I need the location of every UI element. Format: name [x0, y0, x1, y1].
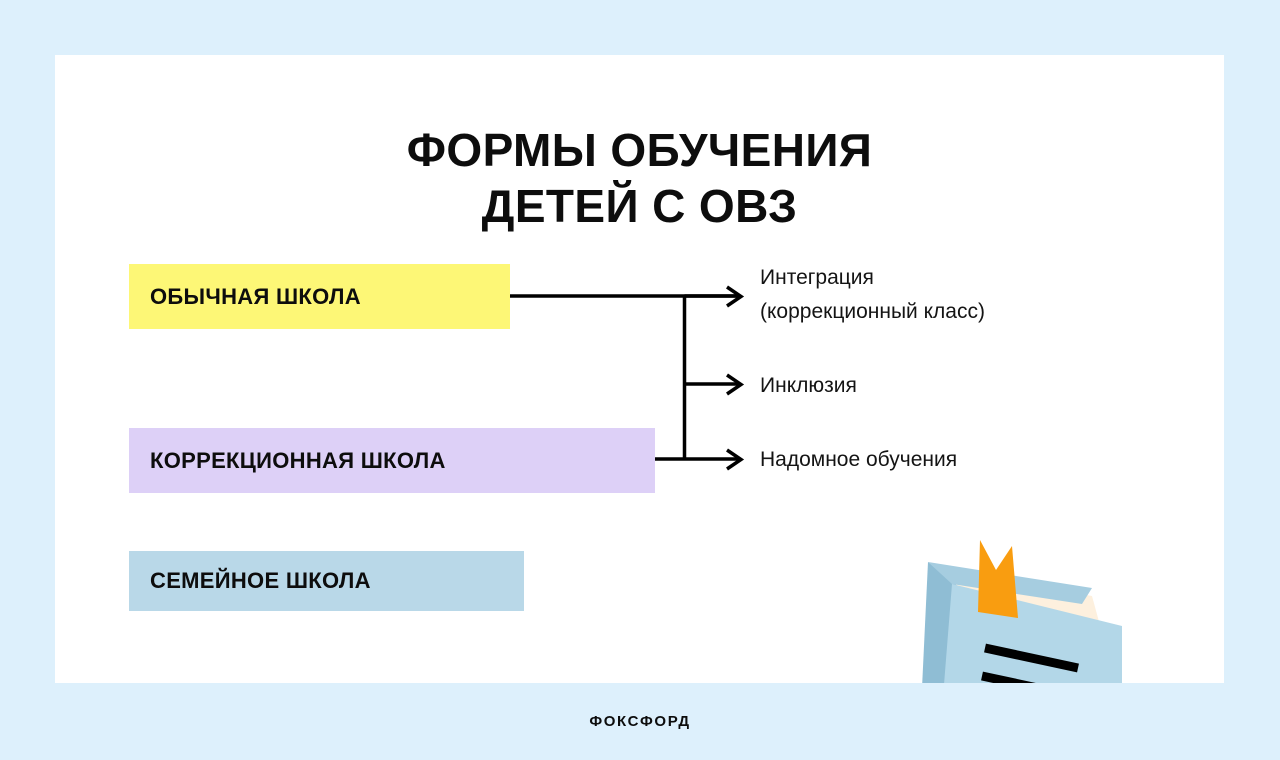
bookmark-ribbon: [978, 540, 1018, 618]
footer-bar: ФОКСФОРД: [0, 683, 1280, 760]
outcome-label-home-schooling: Надомное обучения: [760, 443, 957, 477]
category-label-correction: КОРРЕКЦИОННАЯ ШКОЛА: [150, 448, 446, 474]
page-title: ФОРМЫ ОБУЧЕНИЯ ДЕТЕЙ С ОВЗ: [55, 122, 1224, 234]
category-label-family: СЕМЕЙНОЕ ШКОЛА: [150, 568, 371, 594]
category-box-regular[interactable]: ОБЫЧНАЯ ШКОЛА: [129, 264, 510, 329]
category-box-family[interactable]: СЕМЕЙНОЕ ШКОЛА: [129, 551, 524, 611]
arrowhead-integration: [727, 287, 741, 306]
poster-canvas: ФОРМЫ ОБУЧЕНИЯ ДЕТЕЙ С ОВЗ: [0, 0, 1280, 760]
category-box-correction[interactable]: КОРРЕКЦИОННАЯ ШКОЛА: [129, 428, 655, 493]
outcome-label-inclusion: Инклюзия: [760, 369, 857, 403]
brand-logo: ФОКСФОРД: [589, 713, 690, 730]
arrowhead-inclusion: [727, 375, 741, 394]
outcome-label-integration: Интеграция (коррекционный класс): [760, 261, 985, 329]
arrowhead-home-schooling: [727, 450, 741, 469]
category-label-regular: ОБЫЧНАЯ ШКОЛА: [150, 284, 361, 310]
